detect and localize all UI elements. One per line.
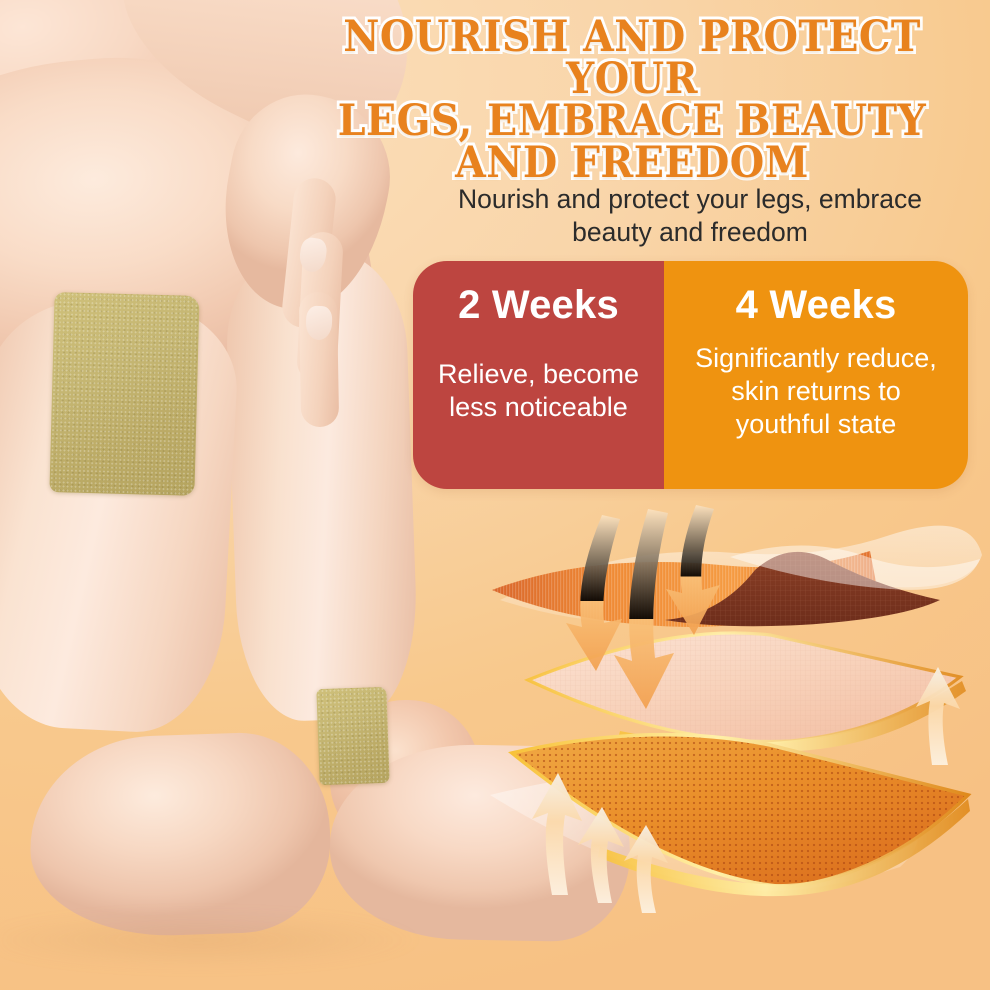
product-banner: NOURISH AND PROTECT YOUR LEGS, EMBRACE B… [0,0,990,990]
subtitle: Nourish and protect your legs, embrace b… [395,183,985,249]
timeline-comparison-card: 2 Weeks Relieve, become less noticeable … [413,261,968,489]
headline-line-3: AND FREEDOM [310,142,954,184]
headline-line-1: NOURISH AND PROTECT YOUR [310,16,954,100]
subtitle-line-2: beauty and freedom [572,217,808,247]
layer-skin-surface [492,526,982,627]
panel-2-weeks-description: Relieve, become less noticeable [438,358,639,424]
panel-4-weeks-description: Significantly reduce, skin returns to yo… [695,342,937,441]
panel-4-weeks-title: 4 Weeks [736,283,897,328]
panel-2-weeks-title: 2 Weeks [458,283,619,328]
herbal-patch-calf [49,292,199,496]
panel-2-weeks: 2 Weeks Relieve, become less noticeable [413,261,664,489]
headline: NOURISH AND PROTECT YOUR LEGS, EMBRACE B… [310,16,954,185]
floor-shadow [0,905,620,975]
absorption-diagram [470,495,990,915]
panel-4-weeks: 4 Weeks Significantly reduce, skin retur… [664,261,968,489]
subtitle-line-1: Nourish and protect your legs, embrace [458,184,922,214]
headline-line-2: LEGS, EMBRACE BEAUTY [310,100,954,142]
herbal-patch-ankle [316,687,389,785]
